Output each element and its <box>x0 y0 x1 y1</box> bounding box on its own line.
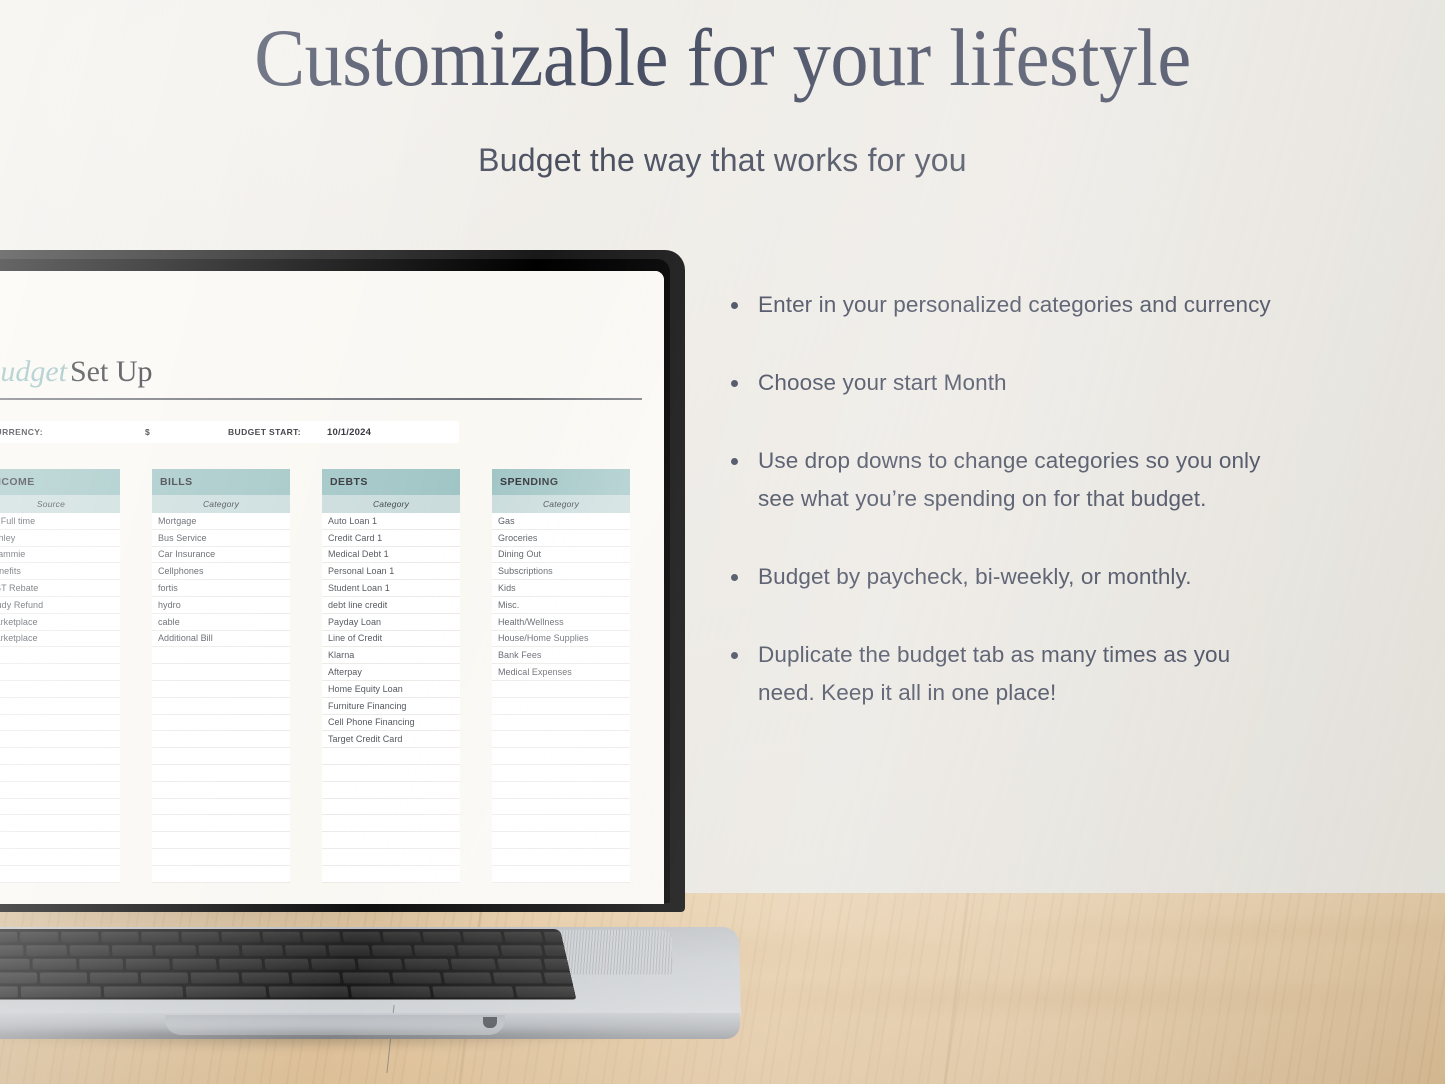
category-cell[interactable]: Kids <box>492 580 630 597</box>
category-cell[interactable]: Afterpay <box>322 664 460 681</box>
laptop-base <box>0 905 750 1045</box>
category-cell-empty[interactable] <box>322 748 460 765</box>
laptop-keyboard[interactable] <box>0 929 576 999</box>
keyboard-key[interactable] <box>432 986 513 997</box>
category-cell[interactable]: Furniture Financing <box>322 698 460 715</box>
category-cell-empty[interactable] <box>492 832 630 849</box>
feature-bullet-text: Budget by paycheck, bi-weekly, or monthl… <box>758 564 1192 589</box>
category-cell-empty[interactable] <box>0 748 120 765</box>
column-subheader: Category <box>492 495 630 513</box>
category-cell[interactable]: Gas <box>492 513 630 530</box>
keyboard-key[interactable] <box>501 945 544 956</box>
feature-bullet: Enter in your personalized categories an… <box>724 286 1284 324</box>
category-cell-empty[interactable] <box>152 681 290 698</box>
category-cell-empty[interactable] <box>492 765 630 782</box>
category-cell[interactable]: Bank Fees <box>492 647 630 664</box>
feature-bullet-text: Duplicate the budget tab as many times a… <box>758 642 1230 705</box>
keyboard-key[interactable] <box>79 959 123 970</box>
category-cell[interactable]: fortis <box>152 580 290 597</box>
keyboard-key[interactable] <box>0 973 37 984</box>
keyboard-key[interactable] <box>285 945 327 956</box>
category-cell[interactable]: Grammie <box>0 547 120 564</box>
keyboard-key[interactable] <box>69 945 110 956</box>
category-cell[interactable]: debt line credit <box>322 597 460 614</box>
category-cell[interactable]: Auto Loan 1 <box>322 513 460 530</box>
bullet-dot-icon <box>731 574 738 581</box>
keyboard-key[interactable] <box>32 959 76 970</box>
laptop-notch-dot <box>483 1017 497 1028</box>
keyboard-key[interactable] <box>311 959 356 970</box>
keyboard-key[interactable] <box>342 932 381 943</box>
keyboard-key[interactable] <box>451 959 497 970</box>
category-cell[interactable]: cable <box>152 614 290 631</box>
category-cell-empty[interactable] <box>492 782 630 799</box>
keyboard-key[interactable] <box>350 986 431 997</box>
keyboard-key[interactable] <box>443 973 492 984</box>
keyboard-key[interactable] <box>493 973 543 984</box>
category-cell-empty[interactable] <box>322 799 460 816</box>
category-cell-empty[interactable] <box>492 698 630 715</box>
category-column: INCOMESourceAli Full timeAshleyGrammieBe… <box>0 469 120 883</box>
feature-bullet: Use drop downs to change categories so y… <box>724 442 1284 518</box>
keyboard-row <box>0 945 576 958</box>
keyboard-key[interactable] <box>328 945 370 956</box>
keyboard-key[interactable] <box>302 932 341 943</box>
category-cell-empty[interactable] <box>0 866 120 883</box>
category-cell-empty[interactable] <box>152 815 290 832</box>
category-cell[interactable]: Medical Expenses <box>492 664 630 681</box>
category-cell-empty[interactable] <box>492 748 630 765</box>
currency-label: CURRENCY: <box>0 427 43 437</box>
category-cell-empty[interactable] <box>152 647 290 664</box>
keyboard-row <box>0 932 576 944</box>
category-cell-empty[interactable] <box>0 782 120 799</box>
keyboard-key[interactable] <box>383 932 422 943</box>
category-cell[interactable]: Subscriptions <box>492 563 630 580</box>
category-cell[interactable]: Ashley <box>0 530 120 547</box>
keyboard-key[interactable] <box>268 986 349 997</box>
column-subheader: Category <box>152 495 290 513</box>
category-cell-empty[interactable] <box>322 765 460 782</box>
category-cell[interactable]: Additional Bill <box>152 631 290 648</box>
bullet-dot-icon <box>731 458 738 465</box>
category-cell-empty[interactable] <box>152 782 290 799</box>
setup-meta-bar: CURRENCY: $ BUDGET START: 10/1/2024 <box>0 421 459 443</box>
category-cell[interactable]: Target Credit Card <box>322 731 460 748</box>
keyboard-key[interactable] <box>141 973 189 984</box>
category-cell[interactable]: Mortgage <box>152 513 290 530</box>
category-column: BILLSCategoryMortgageBus ServiceCar Insu… <box>152 469 290 883</box>
keyboard-key[interactable] <box>26 945 66 956</box>
category-cell-empty[interactable] <box>0 849 120 866</box>
keyboard-key[interactable] <box>404 959 449 970</box>
category-cell[interactable]: House/Home Supplies <box>492 631 630 648</box>
column-body: Auto Loan 1Credit Card 1Medical Debt 1Pe… <box>322 513 460 883</box>
column-body: Ali Full timeAshleyGrammieBenefitsGST Re… <box>0 513 120 883</box>
keyboard-key[interactable] <box>199 945 240 956</box>
category-cell[interactable]: Klarna <box>322 647 460 664</box>
category-cell[interactable]: Marketplace <box>0 614 120 631</box>
keyboard-key[interactable] <box>342 973 391 984</box>
feature-bullet-list: Enter in your personalized categories an… <box>724 286 1284 752</box>
keyboard-key[interactable] <box>242 945 283 956</box>
category-cell-empty[interactable] <box>152 849 290 866</box>
category-cell-empty[interactable] <box>152 765 290 782</box>
category-cell-empty[interactable] <box>492 715 630 732</box>
column-subheader: Source <box>0 495 120 513</box>
category-cell[interactable]: Benefits <box>0 563 120 580</box>
keyboard-key[interactable] <box>503 932 543 943</box>
keyboard-key[interactable] <box>222 932 260 943</box>
keyboard-key[interactable] <box>0 932 18 943</box>
category-column: SPENDINGCategoryGasGroceriesDining OutSu… <box>492 469 630 883</box>
category-cell-empty[interactable] <box>0 731 120 748</box>
page-subtitle: Budget the way that works for you <box>0 142 1445 179</box>
page-title: Customizable for your lifestyle <box>51 14 1395 103</box>
category-cell-empty[interactable] <box>0 765 120 782</box>
keyboard-key[interactable] <box>463 932 502 943</box>
column-header: DEBTS <box>322 469 460 495</box>
keyboard-key[interactable] <box>101 932 139 943</box>
category-cell-empty[interactable] <box>0 799 120 816</box>
category-cell-empty[interactable] <box>492 681 630 698</box>
keyboard-key[interactable] <box>414 945 456 956</box>
category-cell[interactable]: Personal Loan 1 <box>322 563 460 580</box>
category-cell[interactable]: Dining Out <box>492 547 630 564</box>
keyboard-key[interactable] <box>141 932 179 943</box>
category-cell[interactable]: Ali Full time <box>0 513 120 530</box>
column-body: GasGroceriesDining OutSubscriptionsKidsM… <box>492 513 630 883</box>
category-cell-empty[interactable] <box>152 664 290 681</box>
laptop-base-shadow <box>0 1031 740 1057</box>
category-cell-empty[interactable] <box>152 748 290 765</box>
keyboard-key[interactable] <box>155 945 196 956</box>
keyboard-key[interactable] <box>218 959 263 970</box>
category-cell-empty[interactable] <box>492 815 630 832</box>
category-cell[interactable]: Medical Debt 1 <box>322 547 460 564</box>
spreadsheet-title-accent: Budget <box>0 355 70 388</box>
category-cell[interactable]: Home Equity Loan <box>322 681 460 698</box>
column-header: SPENDING <box>492 469 630 495</box>
category-cell-empty[interactable] <box>322 815 460 832</box>
category-cell-empty[interactable] <box>0 681 120 698</box>
budget-start-label: BUDGET START: <box>228 427 301 437</box>
currency-value[interactable]: $ <box>145 427 150 437</box>
spreadsheet-title-rest: Set Up <box>70 355 153 388</box>
column-header: BILLS <box>152 469 290 495</box>
keyboard-key[interactable] <box>292 973 341 984</box>
category-column: DEBTSCategoryAuto Loan 1Credit Card 1Med… <box>322 469 460 883</box>
category-cell[interactable]: Car Insurance <box>152 547 290 564</box>
keyboard-key[interactable] <box>0 945 23 956</box>
keyboard-key[interactable] <box>358 959 403 970</box>
keyboard-key[interactable] <box>186 986 266 997</box>
category-cell[interactable]: hydro <box>152 597 290 614</box>
bullet-dot-icon <box>731 302 738 309</box>
laptop-lid: BudgetSet Up CURRENCY: $ BUDGET START: 1… <box>0 250 685 912</box>
budget-spreadsheet: BudgetSet Up CURRENCY: $ BUDGET START: 1… <box>0 271 664 904</box>
category-cell[interactable]: Misc. <box>492 597 630 614</box>
category-cell-empty[interactable] <box>0 664 120 681</box>
feature-bullet: Duplicate the budget tab as many times a… <box>724 636 1284 712</box>
keyboard-key[interactable] <box>0 959 30 970</box>
laptop-bezel: BudgetSet Up CURRENCY: $ BUDGET START: 1… <box>0 259 670 903</box>
keyboard-key[interactable] <box>103 986 183 997</box>
keyboard-key[interactable] <box>125 959 169 970</box>
keyboard-key[interactable] <box>191 973 239 984</box>
category-cell-empty[interactable] <box>0 647 120 664</box>
keyboard-key[interactable] <box>40 973 88 984</box>
keyboard-row <box>0 986 576 999</box>
title-divider <box>0 398 642 400</box>
keyboard-key[interactable] <box>0 986 18 997</box>
category-cell[interactable]: Marketplace <box>0 631 120 648</box>
column-body: MortgageBus ServiceCar InsuranceCellphon… <box>152 513 290 883</box>
keyboard-key[interactable] <box>90 973 138 984</box>
budget-start-value[interactable]: 10/1/2024 <box>327 427 371 438</box>
category-cell-empty[interactable] <box>0 715 120 732</box>
feature-bullet-text: Enter in your personalized categories an… <box>758 292 1271 317</box>
keyboard-key[interactable] <box>423 932 462 943</box>
category-cell-empty[interactable] <box>492 799 630 816</box>
keyboard-key[interactable] <box>392 973 441 984</box>
keyboard-row <box>0 959 576 972</box>
feature-bullet: Budget by paycheck, bi-weekly, or monthl… <box>724 558 1284 596</box>
feature-bullet: Choose your start Month <box>724 364 1284 402</box>
keyboard-key[interactable] <box>181 932 219 943</box>
keyboard-key[interactable] <box>497 959 543 970</box>
category-cell-empty[interactable] <box>322 782 460 799</box>
keyboard-row <box>0 973 576 986</box>
column-subheader: Category <box>322 495 460 513</box>
keyboard-key[interactable] <box>515 986 577 997</box>
keyboard-key[interactable] <box>61 932 99 943</box>
keyboard-key[interactable] <box>21 986 101 997</box>
category-cell-empty[interactable] <box>152 715 290 732</box>
category-cell-empty[interactable] <box>322 849 460 866</box>
category-cell[interactable]: Bus Service <box>152 530 290 547</box>
keyboard-key[interactable] <box>457 945 499 956</box>
keyboard-key[interactable] <box>265 959 310 970</box>
category-cell-empty[interactable] <box>0 698 120 715</box>
category-cell-empty[interactable] <box>322 866 460 883</box>
category-cell[interactable]: Cellphones <box>152 563 290 580</box>
category-cell[interactable]: Payday Loan <box>322 614 460 631</box>
category-cell[interactable]: Health/Wellness <box>492 614 630 631</box>
category-cell[interactable]: Groceries <box>492 530 630 547</box>
category-cell[interactable]: GST Rebate <box>0 580 120 597</box>
category-cell-empty[interactable] <box>152 866 290 883</box>
category-cell-empty[interactable] <box>152 799 290 816</box>
category-cell[interactable]: Student Loan 1 <box>322 580 460 597</box>
column-header: INCOME <box>0 469 120 495</box>
keyboard-key[interactable] <box>371 945 413 956</box>
category-cell-empty[interactable] <box>152 731 290 748</box>
keyboard-key[interactable] <box>112 945 153 956</box>
category-cell-empty[interactable] <box>152 698 290 715</box>
category-cell-empty[interactable] <box>492 849 630 866</box>
category-cell-empty[interactable] <box>152 832 290 849</box>
spreadsheet-title: BudgetSet Up <box>0 357 152 387</box>
keyboard-key[interactable] <box>172 959 216 970</box>
category-cell-empty[interactable] <box>492 731 630 748</box>
category-cell[interactable]: Line of Credit <box>322 631 460 648</box>
category-cell[interactable]: Study Refund <box>0 597 120 614</box>
category-cell-empty[interactable] <box>322 832 460 849</box>
category-cell-empty[interactable] <box>0 815 120 832</box>
bullet-dot-icon <box>731 652 738 659</box>
category-cell-empty[interactable] <box>0 832 120 849</box>
keyboard-key[interactable] <box>20 932 58 943</box>
feature-bullet-text: Choose your start Month <box>758 370 1007 395</box>
laptop-screen: BudgetSet Up CURRENCY: $ BUDGET START: 1… <box>0 271 664 904</box>
category-cell-empty[interactable] <box>492 866 630 883</box>
bullet-dot-icon <box>731 380 738 387</box>
category-cell[interactable]: Cell Phone Financing <box>322 715 460 732</box>
keyboard-key[interactable] <box>241 973 290 984</box>
keyboard-key[interactable] <box>262 932 301 943</box>
feature-bullet-text: Use drop downs to change categories so y… <box>758 448 1261 511</box>
category-cell[interactable]: Credit Card 1 <box>322 530 460 547</box>
